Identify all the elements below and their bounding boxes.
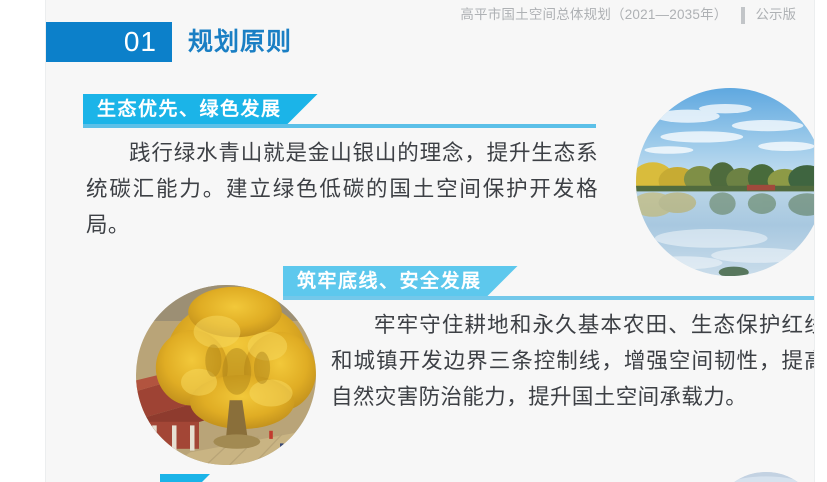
next-section-graphic	[711, 472, 815, 482]
subsection-banner-label-eco: 生态优先、绿色发展	[97, 100, 282, 119]
subsection-banner-label-safety: 筑牢底线、安全发展	[297, 272, 482, 291]
page-sheet: 高平市国土空间总体规划（2021—2035年） 公示版 01 规划原则	[45, 0, 815, 482]
ginkgo-tree-temple-photo	[136, 285, 316, 465]
subsection-body-eco: 践行绿水青山就是金山银山的理念，提升生态系统碳汇能力。建立绿色低碳的国土空间保护…	[86, 135, 598, 243]
banner-underline-eco	[83, 124, 596, 128]
header-divider	[741, 7, 745, 24]
subsection-banner-third	[160, 474, 210, 482]
section-title: 01 规划原则	[46, 22, 292, 62]
document-header-title: 高平市国土空间总体规划（2021—2035年）	[460, 5, 727, 25]
banner-shape-eco: 生态优先、绿色发展	[83, 94, 318, 124]
document-header-tag: 公示版	[756, 5, 797, 25]
subsection-banner-safety: 筑牢底线、安全发展	[283, 266, 518, 296]
slide-viewport: 高平市国土空间总体规划（2021—2035年） 公示版 01 规划原则	[0, 0, 827, 482]
document-header: 高平市国土空间总体规划（2021—2035年） 公示版	[460, 5, 796, 25]
section-number: 01	[124, 28, 157, 56]
park-lake-autumn-graphic	[636, 88, 815, 276]
subsection-body-safety: 牢牢守住耕地和永久基本农田、生态保护红线和城镇开发边界三条控制线，增强空间韧性，…	[331, 307, 815, 415]
section-number-box: 01	[46, 22, 172, 62]
section-title-text: 规划原则	[188, 30, 292, 55]
next-section-photo	[711, 472, 815, 482]
banner-shape-third	[160, 474, 210, 482]
ginkgo-tree-temple-graphic	[136, 285, 316, 465]
banner-shape-safety: 筑牢底线、安全发展	[283, 266, 518, 296]
park-lake-autumn-photo	[636, 88, 815, 276]
banner-underline-safety	[283, 296, 815, 300]
subsection-banner-eco: 生态优先、绿色发展	[83, 94, 318, 124]
